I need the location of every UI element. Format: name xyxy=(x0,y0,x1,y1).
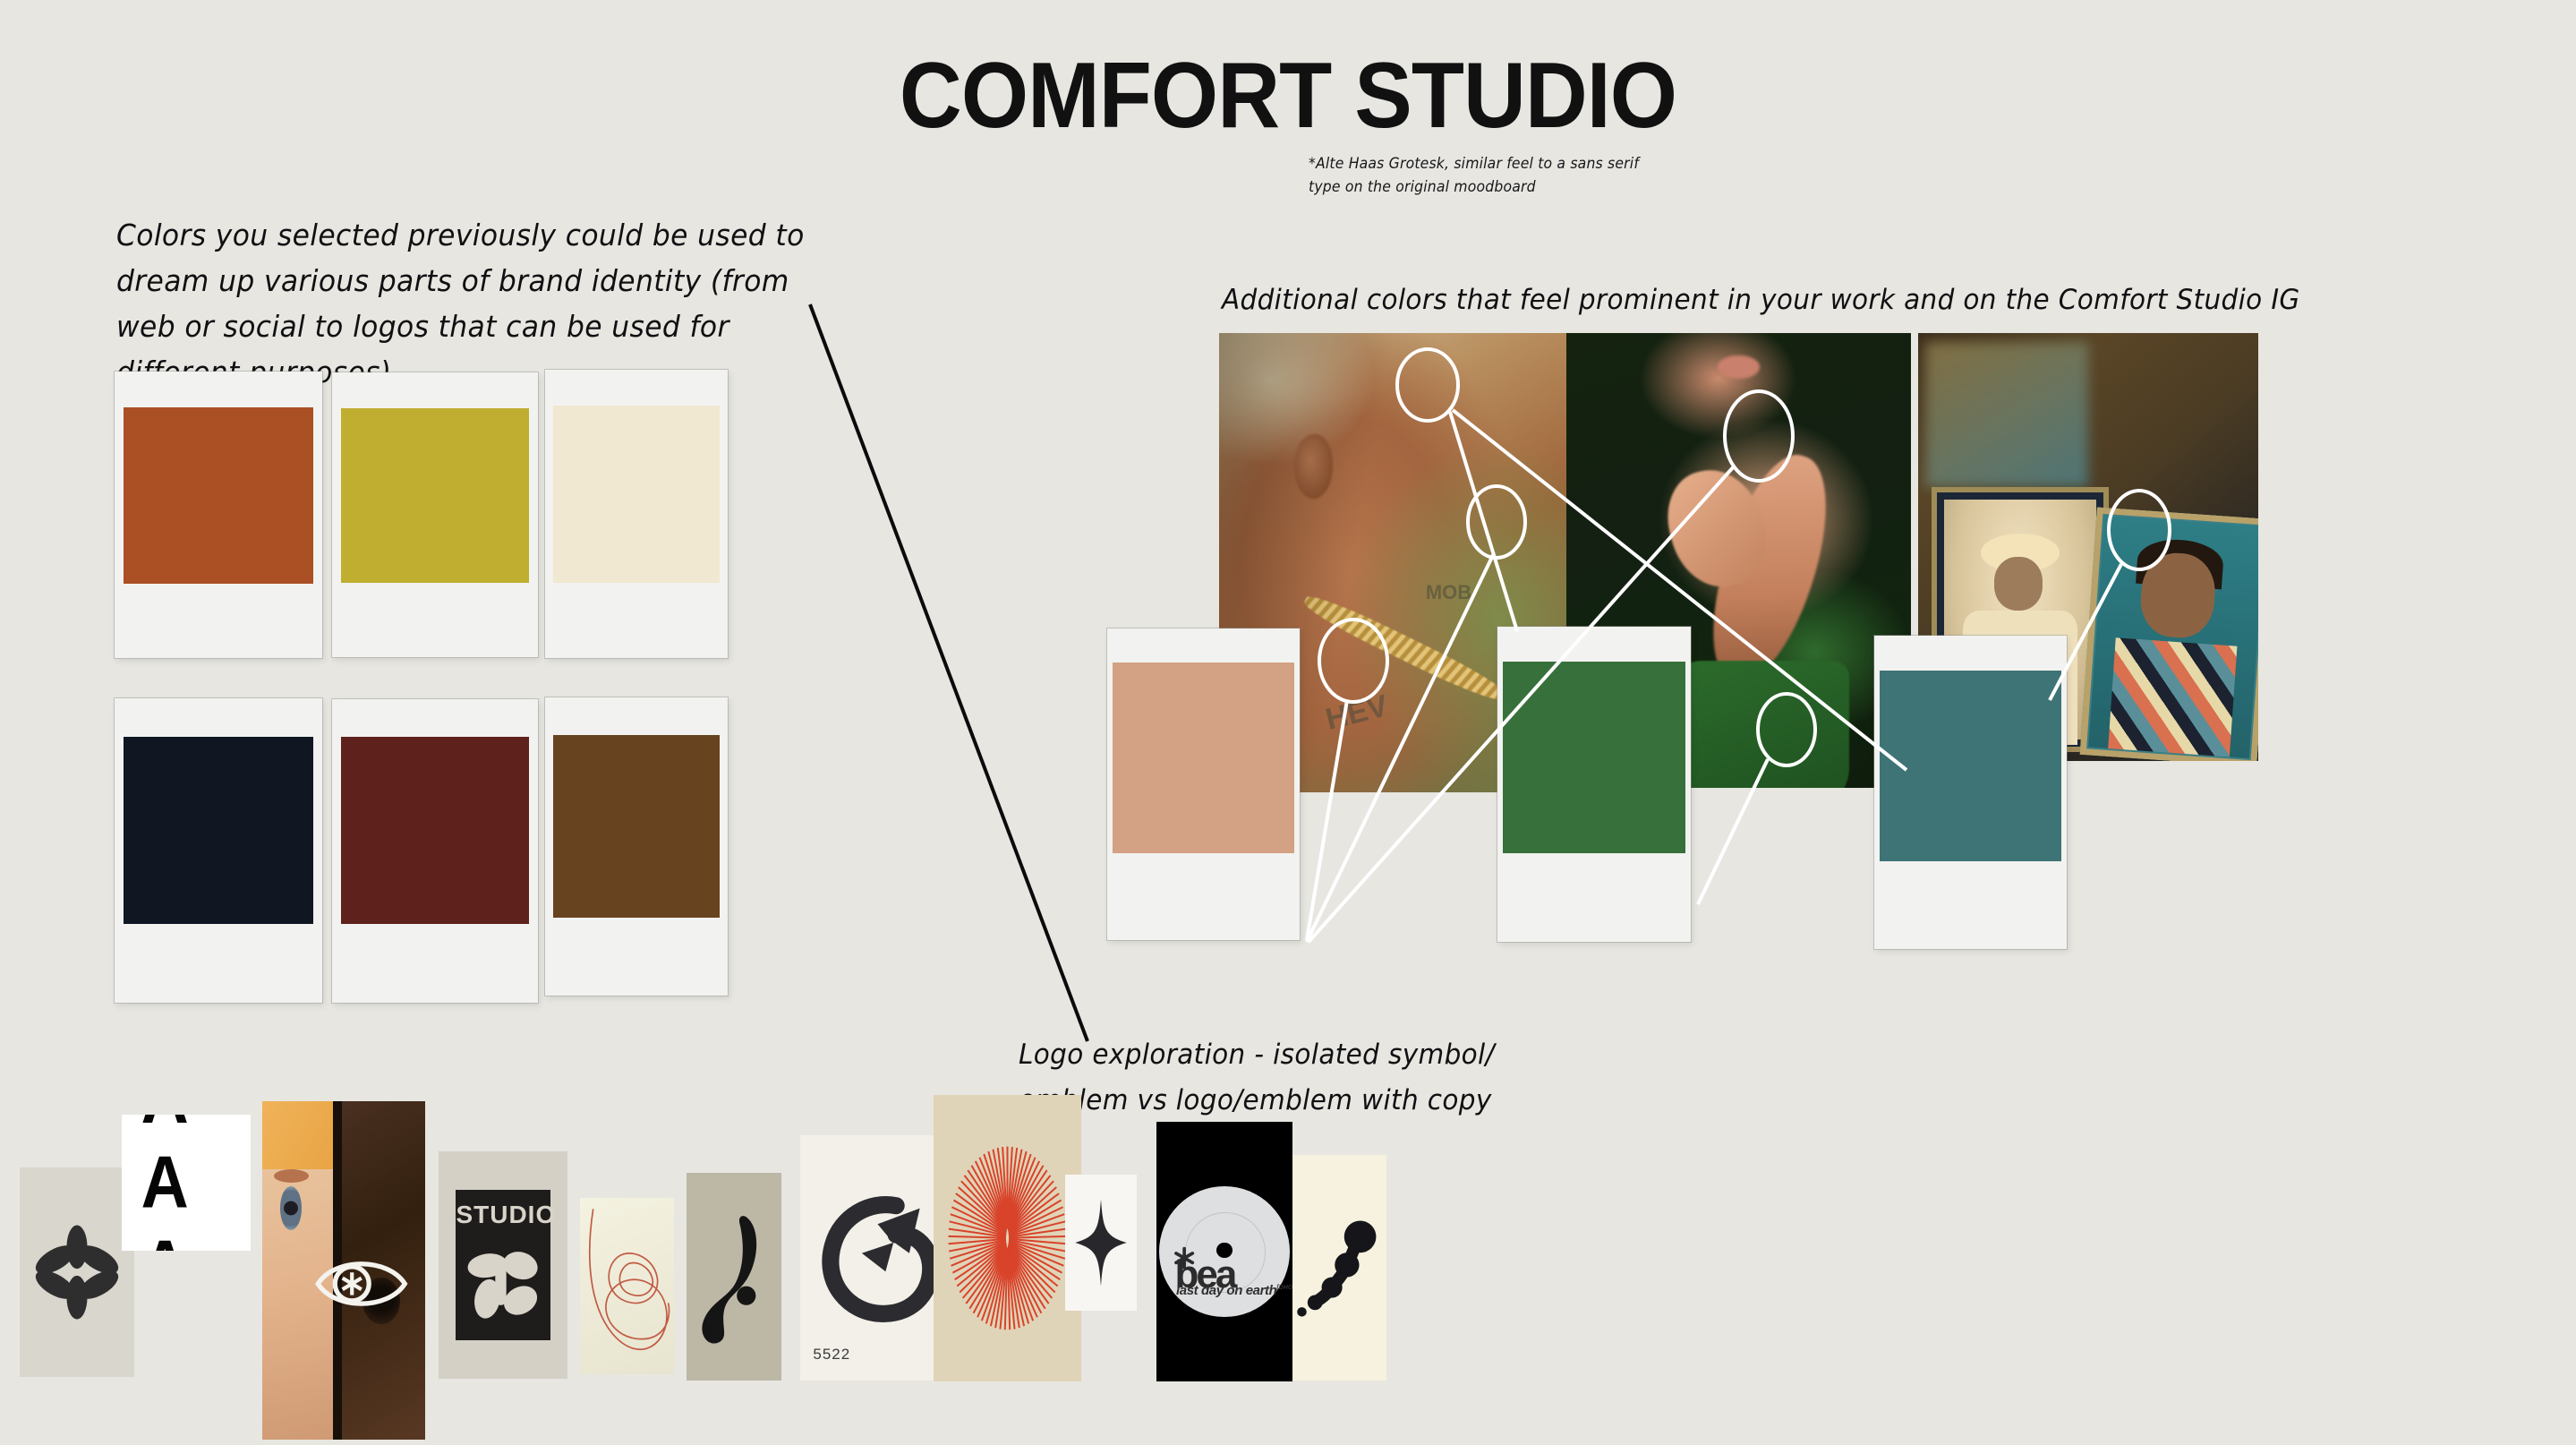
swatch-chip xyxy=(1503,662,1685,854)
patterned-shirt-detail xyxy=(2108,637,2238,757)
four-point-star-tile[interactable] xyxy=(1065,1175,1137,1311)
black-comma-icon xyxy=(687,1173,781,1381)
four-point-star-icon xyxy=(1065,1175,1137,1311)
studio-label: STUDIO xyxy=(456,1201,550,1229)
swatch-chip xyxy=(1113,663,1293,852)
swatch-polaroid-warm-blush[interactable] xyxy=(1107,628,1300,940)
swatch-chip xyxy=(1880,671,2060,862)
bea-sublabel: last day on earth[DHO1093] xyxy=(1176,1283,1282,1298)
bea-catalog-code: [DHO1093] xyxy=(1276,1285,1292,1291)
swatch-polaroid-oxblood[interactable] xyxy=(332,699,538,1003)
black-comma-tile[interactable] xyxy=(687,1173,781,1381)
child-portrait-frame xyxy=(2080,507,2258,761)
ink-dots-icon xyxy=(1292,1155,1386,1381)
annotation-right-palette: Additional colors that feel prominent in… xyxy=(1222,279,2327,321)
swatch-polaroid-walnut-brown[interactable] xyxy=(545,697,728,996)
swatch-chip xyxy=(124,407,314,584)
swatch-chip xyxy=(124,737,314,924)
eyelid-detail xyxy=(274,1169,309,1183)
title-footnote: *Alte Haas Grotesk, similar feel to a sa… xyxy=(1309,152,1654,200)
blonde-hair xyxy=(262,1101,340,1169)
swatch-chip xyxy=(553,406,721,583)
aaa-label: A A A xyxy=(122,1115,251,1251)
aaa-letterforms-tile[interactable]: A A A xyxy=(122,1115,251,1251)
annotation-left-palette: Colors you selected previously could be … xyxy=(116,212,814,396)
page-title: COMFORT STUDIO xyxy=(90,43,2486,150)
vinyl-label-disc: bea last day on earth[DHO1093] xyxy=(1159,1186,1290,1317)
red-loop-scribble-icon xyxy=(580,1198,674,1374)
green-dress-detail xyxy=(1670,661,1849,788)
brush-arrow-tile[interactable]: 5522 xyxy=(800,1135,943,1381)
studio-emblem-tile[interactable]: STUDIO xyxy=(439,1151,567,1379)
flower-asterisk-icon xyxy=(20,1167,134,1377)
eye-faces-tile[interactable] xyxy=(262,1101,425,1440)
flower-asterisk-tile[interactable] xyxy=(20,1167,134,1377)
blue-iris xyxy=(280,1186,303,1230)
swatch-polaroid-ink-navy[interactable] xyxy=(115,698,322,1003)
studio-flower-k-icon xyxy=(464,1232,542,1331)
annotation-logo-exploration: Logo exploration - isolated symbol/ embl… xyxy=(1019,1032,1529,1124)
swatch-chip xyxy=(341,408,530,584)
bea-sublabel-text: last day on earth xyxy=(1176,1283,1276,1298)
red-line-scribble-tile[interactable] xyxy=(580,1198,674,1374)
ink-dots-tile[interactable] xyxy=(1292,1155,1386,1381)
portrait-image xyxy=(2088,516,2258,758)
swatch-polaroid-cream[interactable] xyxy=(545,370,728,658)
background-frames-blur xyxy=(1925,342,2088,488)
face-detail xyxy=(1994,557,2043,610)
brush-arrow-icon xyxy=(809,1189,941,1341)
swatch-polaroid-burnt-sienna[interactable] xyxy=(115,372,322,658)
drawn-eye-overlay-icon xyxy=(314,1236,409,1331)
studio-emblem-box: STUDIO xyxy=(456,1190,550,1340)
swatch-polaroid-mustard-olive[interactable] xyxy=(332,372,538,657)
red-sunburst-rays xyxy=(934,1095,1081,1381)
swatch-polaroid-deep-teal[interactable] xyxy=(1874,636,2067,949)
lips-detail xyxy=(1718,355,1759,378)
swatch-chip xyxy=(341,737,530,924)
bea-vinyl-tile[interactable]: bea last day on earth[DHO1093] xyxy=(1156,1122,1292,1381)
swatch-polaroid-forest-green[interactable] xyxy=(1497,627,1691,942)
red-sunburst-tile[interactable] xyxy=(934,1095,1081,1381)
arrow-number-label: 5522 xyxy=(813,1346,850,1364)
swatch-chip xyxy=(553,735,721,919)
moodboard-canvas: COMFORT STUDIO *Alte Haas Grotesk, simil… xyxy=(0,0,2576,1445)
